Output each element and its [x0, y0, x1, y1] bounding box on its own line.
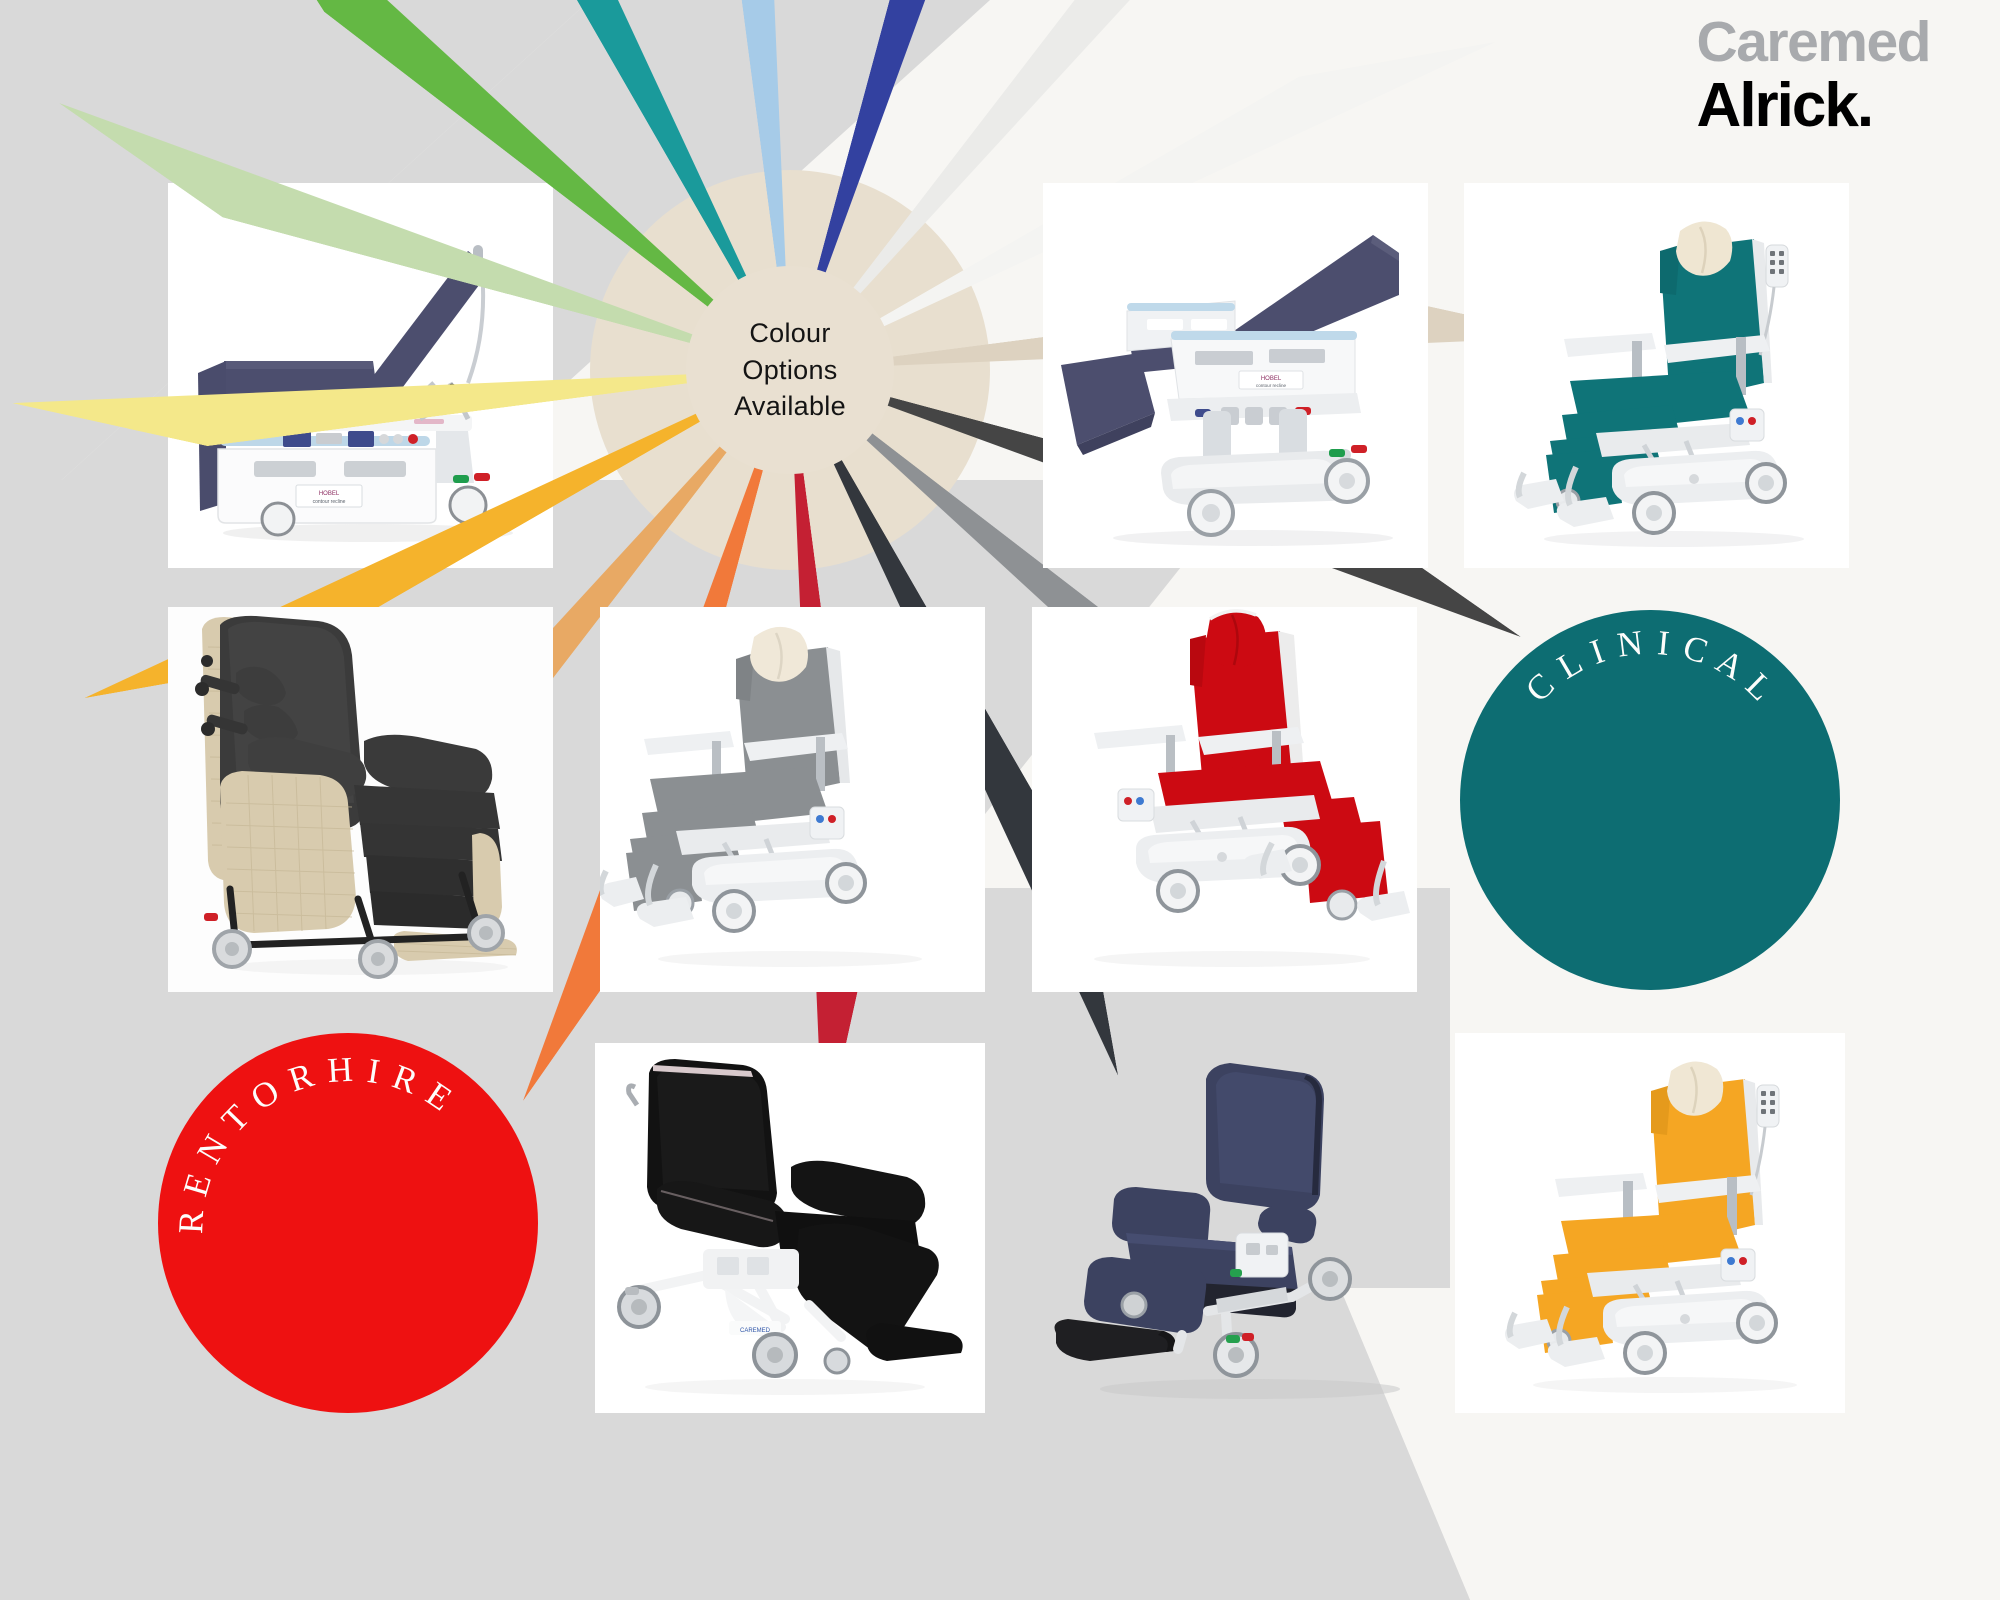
gallery-tile-amber-recliner[interactable] — [1455, 1033, 1845, 1413]
colour-wheel-hub: ColourOptionsAvailable — [686, 266, 894, 474]
gallery-tile-teal-recliner[interactable] — [1464, 183, 1849, 568]
gallery-tile-black-recliner[interactable]: CAREMED — [595, 1043, 985, 1413]
navy-procedure-trolley-angle-image: HOBEL contour recline — [1043, 183, 1428, 568]
badge-clinical[interactable]: C L I N I C A L — [1460, 610, 1840, 990]
svg-text:contour recline: contour recline — [1256, 383, 1287, 388]
svg-text:HOBEL: HOBEL — [319, 491, 340, 497]
gallery-tile-grey-recliner[interactable] — [600, 607, 985, 992]
moodboard-canvas: Caremed Alrick. — [0, 0, 2000, 1600]
brand-logo-line2: Alrick. — [1697, 75, 1930, 137]
colour-options-wheel[interactable]: ColourOptionsAvailable — [590, 170, 990, 570]
badge-clinical-label: C L I N I C A L — [1518, 623, 1782, 710]
svg-text:contour recline: contour recline — [313, 499, 346, 505]
grey-recliner-image — [600, 607, 985, 992]
gallery-tile-navy-procedure-trolley-angle[interactable]: HOBEL contour recline — [1043, 183, 1428, 568]
gallery-tile-charcoal-care-chair[interactable] — [168, 607, 553, 992]
teal-recliner-image — [1464, 183, 1849, 568]
black-recliner-image: CAREMED — [595, 1043, 985, 1413]
brand-logo-line1: Caremed — [1697, 14, 1930, 71]
colour-wheel-hub-text: ColourOptionsAvailable — [734, 315, 846, 424]
amber-recliner-image — [1455, 1033, 1845, 1413]
navy-treatment-chair-image — [1030, 1043, 1420, 1413]
svg-text:HOBEL: HOBEL — [1261, 376, 1282, 382]
gallery-tile-red-recliner[interactable] — [1032, 607, 1417, 992]
badge-rent-or-hire-text: R E N T O R H I R E — [158, 1033, 538, 1413]
red-recliner-image — [1032, 607, 1417, 992]
charcoal-care-chair-image — [168, 607, 553, 992]
badge-clinical-text: C L I N I C A L — [1460, 610, 1840, 990]
badge-rent-or-hire[interactable]: R E N T O R H I R E — [158, 1033, 538, 1413]
gallery-tile-navy-treatment-chair[interactable] — [1030, 1043, 1420, 1413]
svg-text:CAREMED: CAREMED — [740, 1328, 771, 1334]
brand-logo: Caremed Alrick. — [1697, 14, 1930, 137]
badge-rent-or-hire-label: R E N T O R H I R E — [171, 1050, 460, 1235]
